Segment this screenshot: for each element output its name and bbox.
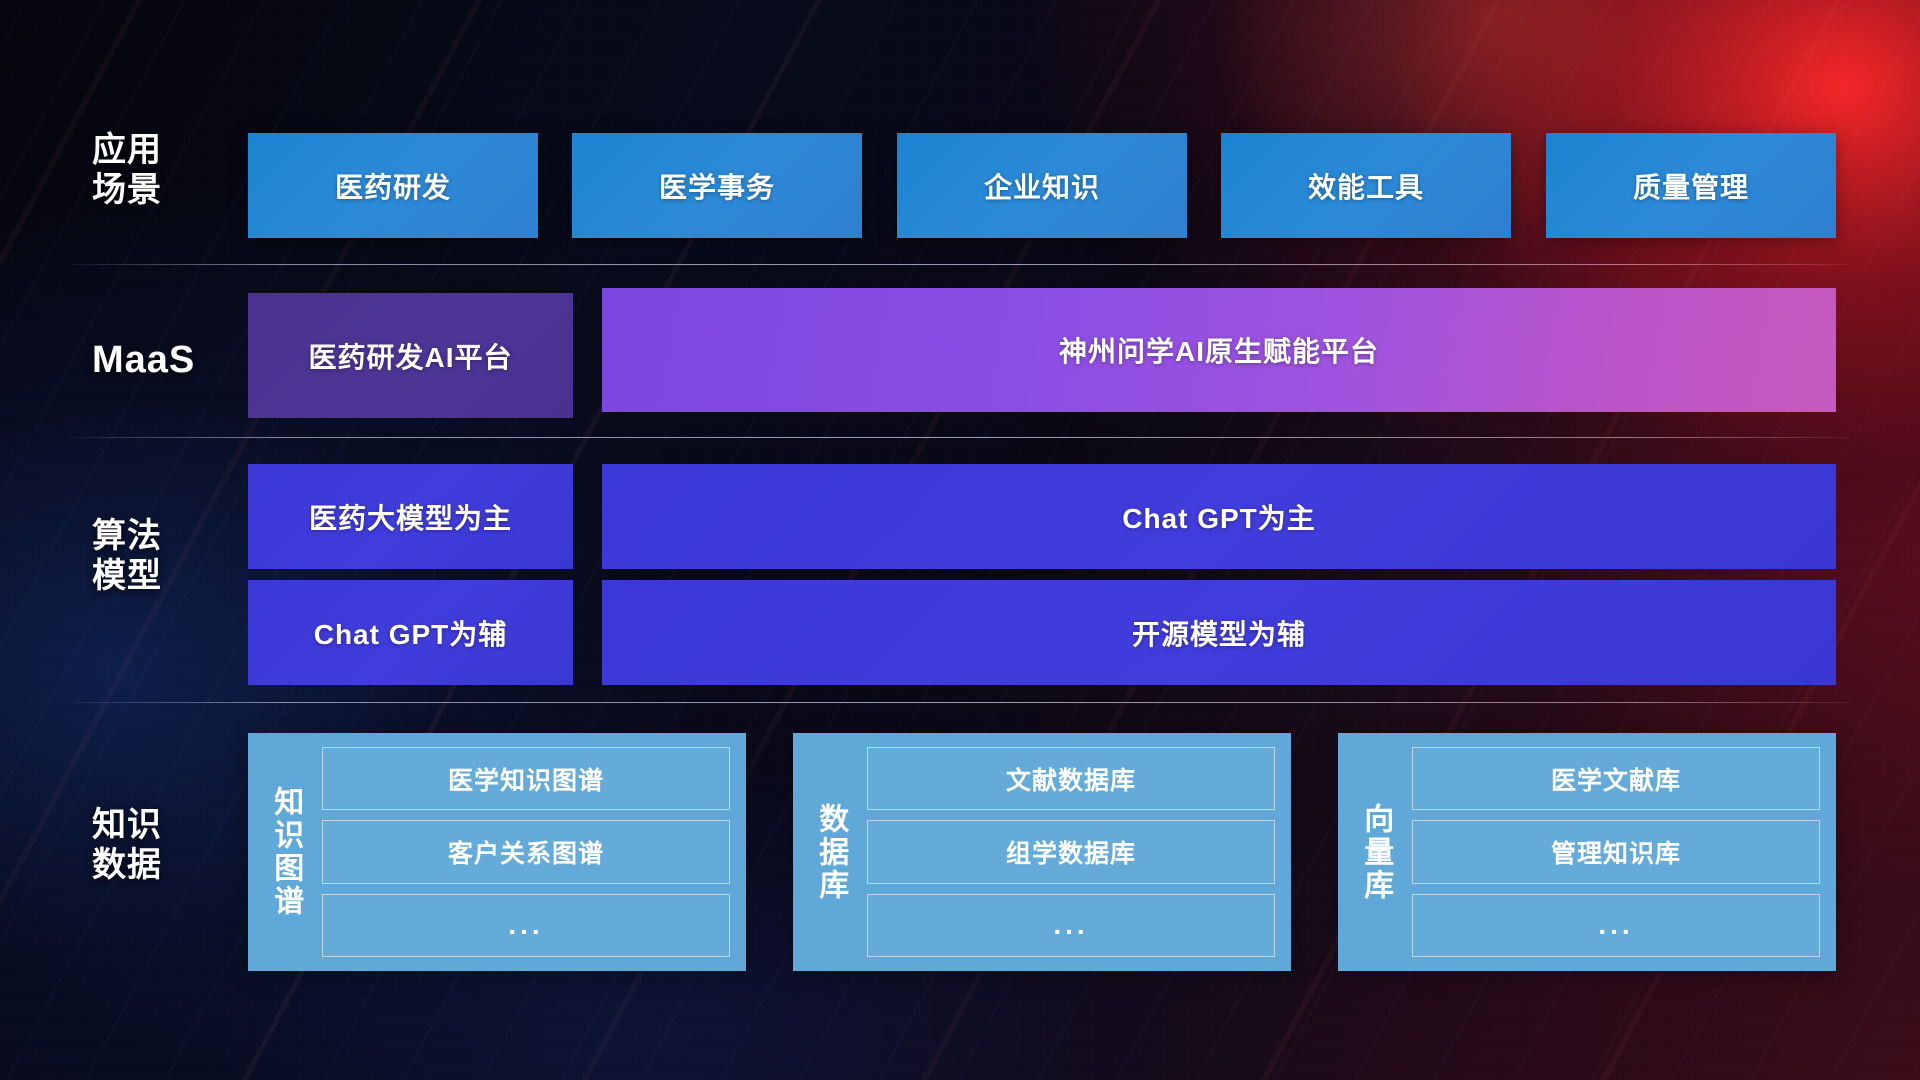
row-label-knowledge-line1: 知识 [92, 805, 222, 845]
row-label-algorithm-line2: 模型 [92, 556, 222, 596]
algo-box-chatgpt-primary[interactable]: Chat GPT为主 [602, 464, 1836, 569]
knowledge-item-medical-literature-store[interactable]: 医学文献库 [1412, 747, 1820, 810]
app-box-enterprise-knowledge[interactable]: 企业知识 [897, 133, 1187, 238]
knowledge-item-customer-relation-graph[interactable]: 客户关系图谱 [322, 820, 730, 883]
diagram-canvas: 应用 场景 医药研发 医学事务 企业知识 效能工具 质量管理 MaaS 医药研发… [0, 0, 1920, 1080]
row-label-algorithm: 算法 模型 [92, 516, 222, 596]
maas-box-shenzhou-wenxue-platform[interactable]: 神州问学AI原生赋能平台 [602, 288, 1836, 412]
row-label-knowledge: 知识 数据 [92, 805, 222, 885]
knowledge-group-label-database: 数据库 [807, 747, 853, 957]
row-label-application-line1: 应用 [92, 130, 222, 170]
knowledge-item-more-knowledge-graph[interactable]: ... [322, 894, 730, 957]
knowledge-group-knowledge-graph[interactable]: 知识图谱 医学知识图谱 客户关系图谱 ... [248, 733, 746, 971]
knowledge-item-more-database[interactable]: ... [867, 894, 1275, 957]
knowledge-item-literature-database[interactable]: 文献数据库 [867, 747, 1275, 810]
row-label-application-line2: 场景 [92, 170, 222, 210]
knowledge-group-database[interactable]: 数据库 文献数据库 组学数据库 ... [793, 733, 1291, 971]
knowledge-item-more-vector-store[interactable]: ... [1412, 894, 1820, 957]
row-label-application: 应用 场景 [92, 130, 222, 210]
knowledge-items-knowledge-graph: 医学知识图谱 客户关系图谱 ... [322, 747, 730, 957]
knowledge-group-vector-store[interactable]: 向量库 医学文献库 管理知识库 ... [1338, 733, 1836, 971]
algo-box-chatgpt-secondary[interactable]: Chat GPT为辅 [248, 580, 573, 685]
knowledge-item-management-knowledge-store[interactable]: 管理知识库 [1412, 820, 1820, 883]
app-box-quality-management[interactable]: 质量管理 [1546, 133, 1836, 238]
algo-box-opensource-secondary[interactable]: 开源模型为辅 [602, 580, 1836, 685]
knowledge-items-database: 文献数据库 组学数据库 ... [867, 747, 1275, 957]
algo-box-medicine-large-model-primary[interactable]: 医药大模型为主 [248, 464, 573, 569]
app-box-efficiency-tools[interactable]: 效能工具 [1221, 133, 1511, 238]
app-box-medicine-rnd[interactable]: 医药研发 [248, 133, 538, 238]
divider-algorithm-knowledge [70, 702, 1850, 703]
knowledge-items-vector-store: 医学文献库 管理知识库 ... [1412, 747, 1820, 957]
row-label-algorithm-line1: 算法 [92, 516, 222, 556]
knowledge-item-omics-database[interactable]: 组学数据库 [867, 820, 1275, 883]
knowledge-item-medical-knowledge-graph[interactable]: 医学知识图谱 [322, 747, 730, 810]
row-label-maas: MaaS [92, 338, 222, 383]
divider-application-maas [70, 264, 1850, 265]
maas-box-medicine-ai-platform[interactable]: 医药研发AI平台 [248, 293, 573, 418]
row-label-knowledge-line2: 数据 [92, 845, 222, 885]
divider-maas-algorithm [70, 437, 1850, 438]
knowledge-group-label-knowledge-graph: 知识图谱 [262, 747, 308, 957]
knowledge-group-label-vector-store: 向量库 [1352, 747, 1398, 957]
app-box-medical-affairs[interactable]: 医学事务 [572, 133, 862, 238]
